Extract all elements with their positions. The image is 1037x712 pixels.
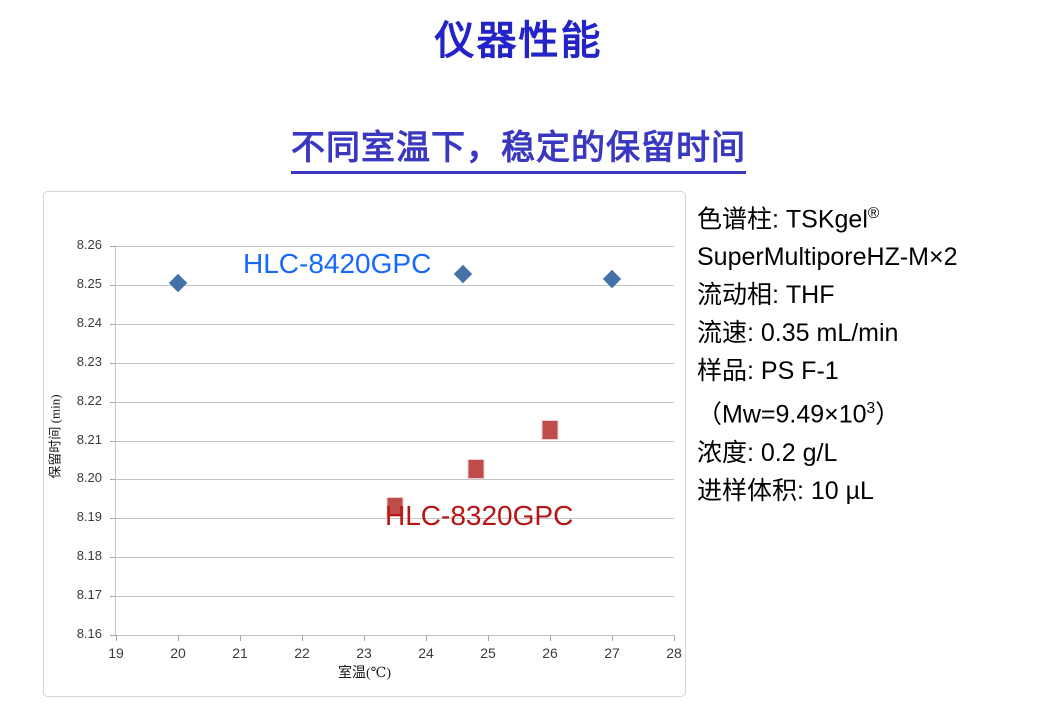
analysis-conditions: 色谱柱: TSKgel®SuperMultiporeHZ-M×2流动相: THF… (697, 195, 1032, 510)
data-point-square (467, 459, 484, 479)
y-axis-label: 8.20 (77, 470, 102, 485)
condition-text: SuperMultiporeHZ-M×2 (697, 243, 958, 271)
condition-line: 流动相: THF (697, 276, 1032, 314)
data-point-square (542, 420, 559, 440)
x-axis-tick (488, 635, 489, 641)
condition-line: 浓度: 0.2 g/L (697, 434, 1032, 472)
page-subtitle: 不同室温下，稳定的保留时间 (0, 120, 1037, 174)
y-axis-label: 8.19 (77, 509, 102, 524)
data-point-diamond (454, 265, 472, 283)
y-axis-label: 8.16 (77, 626, 102, 641)
y-gridline (116, 479, 674, 480)
condition-line: 流速: 0.35 mL/min (697, 314, 1032, 352)
x-axis-label: 24 (418, 645, 434, 661)
x-axis-label: 27 (604, 645, 620, 661)
y-axis-label: 8.24 (77, 315, 102, 330)
y-axis-label: 8.18 (77, 548, 102, 563)
series-label: HLC-8320GPC (385, 500, 573, 532)
x-axis-tick (178, 635, 179, 641)
condition-text: 进样体积: 10 µL (697, 477, 874, 505)
condition-superscript: 3 (867, 400, 876, 417)
chart-plot-area: 8.268.258.248.238.228.218.208.198.188.17… (116, 246, 674, 635)
x-axis-label: 25 (480, 645, 496, 661)
condition-text: 浓度: 0.2 g/L (697, 439, 837, 467)
y-gridline (116, 285, 674, 286)
x-axis-tick (550, 635, 551, 641)
x-axis-label: 28 (666, 645, 682, 661)
y-gridline (116, 246, 674, 247)
condition-line: SuperMultiporeHZ-M×2 (697, 238, 1032, 276)
x-axis-label: 22 (294, 645, 310, 661)
x-axis-title: 室温(℃) (44, 662, 685, 682)
series-label: HLC-8420GPC (243, 248, 431, 280)
x-axis-tick (302, 635, 303, 641)
y-gridline (116, 441, 674, 442)
x-axis-tick (426, 635, 427, 641)
condition-text: 色谱柱: TSKgel (697, 205, 868, 233)
x-axis-label: 19 (108, 645, 124, 661)
y-gridline (116, 324, 674, 325)
condition-text: 流动相: THF (697, 281, 835, 309)
page-title: 仪器性能 (0, 8, 1037, 66)
condition-line: 色谱柱: TSKgel® (697, 195, 1032, 238)
y-gridline (116, 557, 674, 558)
y-axis-label: 8.22 (77, 393, 102, 408)
x-axis-label: 20 (170, 645, 186, 661)
y-axis-line (115, 245, 116, 635)
y-gridline (116, 363, 674, 364)
y-axis-label: 8.26 (77, 237, 102, 252)
x-axis-tick (612, 635, 613, 641)
page-subtitle-text: 不同室温下，稳定的保留时间 (291, 120, 746, 174)
condition-tail: ） (875, 401, 900, 429)
condition-line: 样品: PS F-1 (697, 352, 1032, 390)
condition-line: （Mw=9.49×103） (697, 390, 1032, 433)
x-axis-tick (364, 635, 365, 641)
x-axis-tick (116, 635, 117, 641)
x-axis-label: 26 (542, 645, 558, 661)
y-axis-label: 8.21 (77, 432, 102, 447)
x-axis-label: 21 (232, 645, 248, 661)
data-point-diamond (169, 274, 187, 292)
x-axis-line (116, 635, 674, 636)
x-axis-tick (240, 635, 241, 641)
y-axis-title: 保留时间 (min) (45, 382, 64, 492)
y-axis-label: 8.25 (77, 276, 102, 291)
x-axis-tick (674, 635, 675, 641)
y-gridline (116, 402, 674, 403)
y-axis-label: 8.17 (77, 587, 102, 602)
x-axis-label: 23 (356, 645, 372, 661)
y-axis-label: 8.23 (77, 354, 102, 369)
condition-text: （Mw=9.49×10 (697, 401, 867, 429)
condition-superscript: ® (868, 205, 879, 222)
condition-line: 进样体积: 10 µL (697, 472, 1032, 510)
condition-text: 样品: PS F-1 (697, 357, 839, 385)
y-gridline (116, 596, 674, 597)
condition-text: 流速: 0.35 mL/min (697, 319, 898, 347)
